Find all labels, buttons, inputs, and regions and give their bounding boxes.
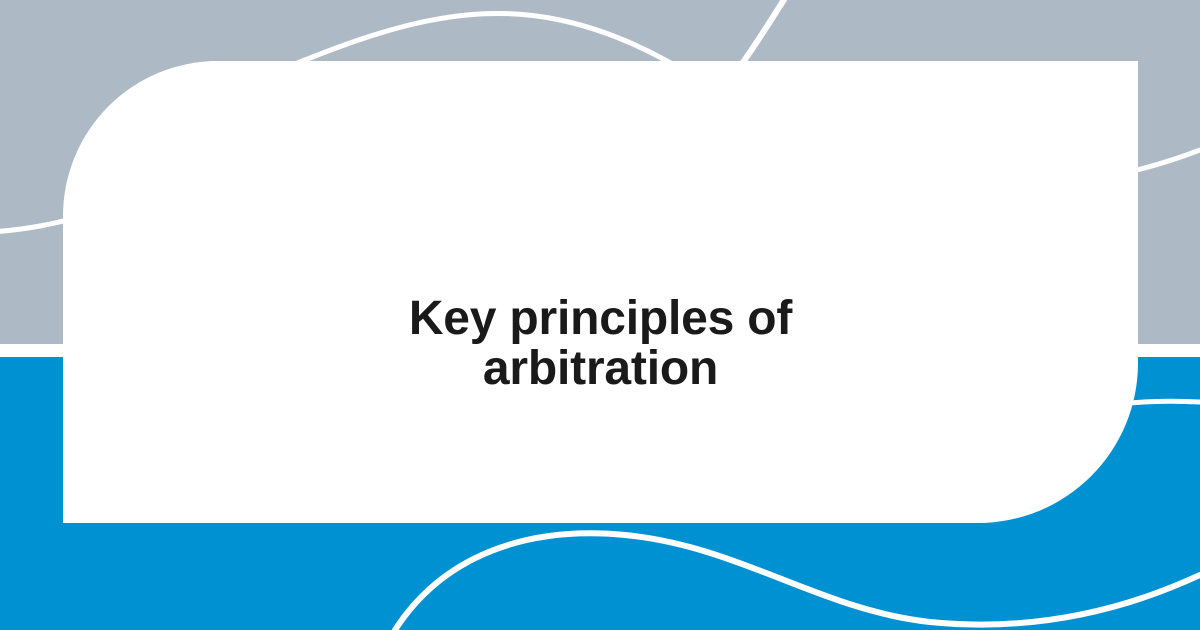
title-card-canvas: Key principles of arbitration (0, 0, 1200, 630)
content-card-inner: Key principles of arbitration (63, 61, 1138, 523)
page-title: Key principles of arbitration (391, 294, 811, 394)
content-card: Key principles of arbitration (63, 61, 1138, 523)
